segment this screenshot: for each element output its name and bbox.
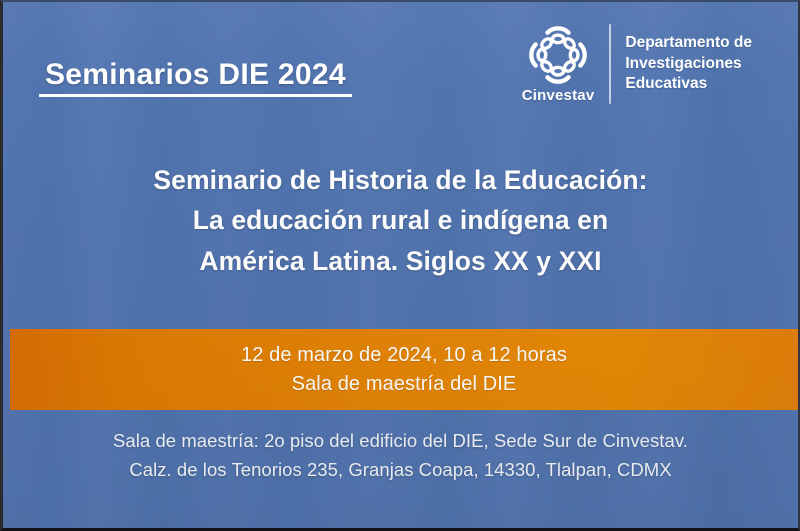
event-datetime: 12 de marzo de 2024, 10 a 12 horas [241,341,567,369]
department-name: Departamento de Investigaciones Educativ… [625,33,752,94]
department-line-3: Educativas [625,74,752,94]
seminar-title: Seminario de Historia de la Educación: L… [3,160,798,281]
department-line-1: Departamento de [625,33,752,53]
cinvestav-emblem-icon [526,24,590,86]
seminar-title-line-2: La educación rural e indígena en [3,200,798,240]
event-poster-slide: Cinvestav Departamento de Investigacione… [0,0,800,531]
brand-lockup: Cinvestav Departamento de Investigacione… [522,24,752,104]
series-title-text: Seminarios DIE 2024 [45,58,346,91]
venue-address-line-1: Sala de maestría: 2o piso del edificio d… [3,426,798,455]
cinvestav-wordmark: Cinvestav [522,87,595,104]
seminar-title-line-3: América Latina. Siglos XX y XXI [3,241,798,281]
seminar-title-line-1: Seminario de Historia de la Educación: [3,160,798,200]
venue-address: Sala de maestría: 2o piso del edificio d… [3,426,798,484]
series-title: Seminarios DIE 2024 [45,58,346,97]
brand-divider [609,24,611,104]
department-line-2: Investigaciones [625,54,752,74]
venue-address-line-2: Calz. de los Tenorios 235, Granjas Coapa… [3,455,798,484]
event-venue: Sala de maestría del DIE [292,370,517,398]
cinvestav-logo: Cinvestav [522,24,610,104]
series-title-underline [39,94,352,97]
schedule-band: 12 de marzo de 2024, 10 a 12 horas Sala … [10,329,798,410]
